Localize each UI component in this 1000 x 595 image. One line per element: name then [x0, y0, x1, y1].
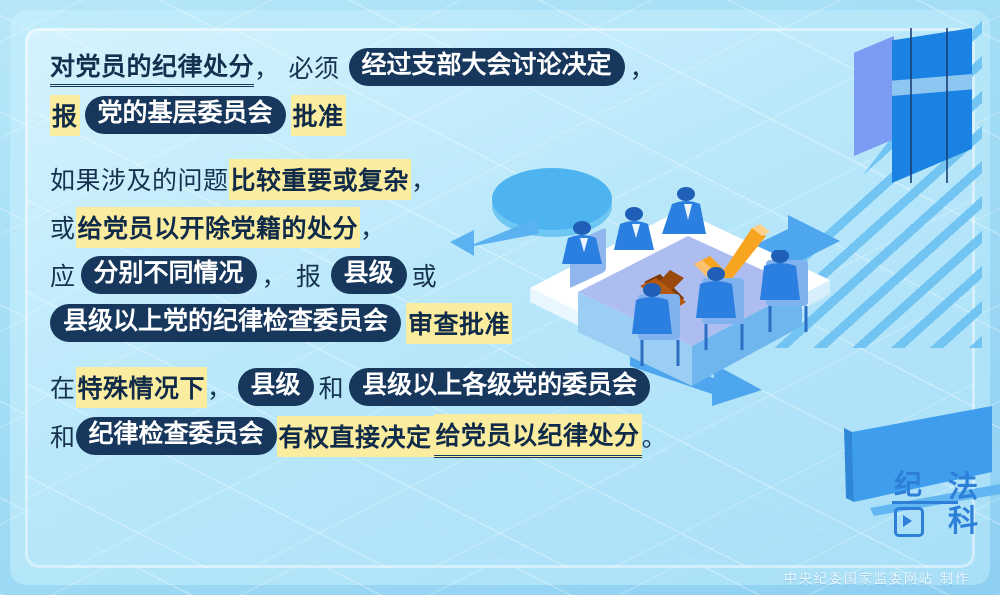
text-plain: 或	[412, 257, 438, 293]
text-plain: 和	[50, 418, 76, 454]
text-highlight: 审查批准	[406, 303, 512, 344]
text-plain: 如果涉及的问题	[50, 161, 229, 197]
text-highlight-underline: 给党员以纪律处分	[434, 414, 642, 458]
logo-glyph-ji: 纪	[894, 471, 922, 499]
text-plain: 和	[319, 369, 345, 405]
infographic-canvas: 对党员的纪律处分 ， 必须 经过支部大会讨论决定 ， 报 党的基层委员会 批准 …	[0, 0, 1000, 595]
credit-text: 中央纪委国家监委网站 制作	[784, 568, 970, 587]
text-plain: ，	[262, 257, 288, 293]
pill-tag: 县级以上各级党的委员会	[349, 368, 650, 406]
pill-tag: 县级	[331, 256, 407, 294]
pill-tag: 纪律检查委员会	[76, 417, 277, 455]
text-line: 报 党的基层委员会 批准	[50, 94, 660, 136]
pill-tag: 分别不同情况	[81, 256, 257, 294]
text-highlight: 给党员以开除党籍的处分	[76, 207, 361, 248]
text-highlight: 特殊情况下	[76, 367, 208, 408]
text-plain: 。	[642, 418, 668, 454]
text-highlight: 报	[50, 95, 80, 136]
text-underline: 对党员的纪律处分	[50, 47, 254, 87]
paragraph-3: 在 特殊情况下 ， 县级 和 县级以上各级党的委员会 和 纪律检查委员会 有权直…	[50, 366, 660, 458]
text-plain: 在	[50, 369, 76, 405]
text-plain: ，	[360, 209, 386, 245]
pill-tag: 县级以上党的纪律检查委员会	[50, 304, 401, 342]
logo-glyph-ke: 科	[948, 507, 978, 537]
text-plain: ，	[254, 49, 280, 85]
text-line: 如果涉及的问题 比较重要或复杂 ，	[50, 158, 660, 200]
text-plain: 或	[50, 209, 76, 245]
text-plain: ，	[207, 369, 233, 405]
pill-tag: 党的基层委员会	[85, 96, 286, 134]
logo-glyph-fa: 法	[948, 473, 978, 503]
logo-play-triangle-icon	[903, 515, 912, 527]
pill-tag: 经过支部大会讨论决定	[349, 48, 625, 86]
text-line: 县级以上党的纪律检查委员会 审查批准	[50, 302, 660, 344]
text-line: 或 给党员以开除党籍的处分 ，	[50, 206, 660, 248]
text-plain: ，	[630, 49, 656, 85]
text-plain: 报	[296, 257, 322, 293]
text-line: 在 特殊情况下 ， 县级 和 县级以上各级党的委员会	[50, 366, 660, 408]
text-line: 和 纪律检查委员会 有权直接决定 给党员以纪律处分 。	[50, 414, 660, 458]
stair-building-icon	[854, 28, 972, 188]
body-text-column: 对党员的纪律处分 ， 必须 经过支部大会讨论决定 ， 报 党的基层委员会 批准 …	[50, 46, 660, 480]
text-highlight: 批准	[291, 95, 346, 136]
text-line: 应 分别不同情况 ， 报 县级 或	[50, 254, 660, 296]
paragraph-2: 如果涉及的问题 比较重要或复杂 ， 或 给党员以开除党籍的处分 ， 应 分别不同…	[50, 158, 660, 344]
brand-logo: 纪 法 科	[892, 471, 978, 537]
text-highlight: 有权直接决定	[277, 416, 434, 457]
text-line: 对党员的纪律处分 ， 必须 经过支部大会讨论决定 ，	[50, 46, 660, 88]
paragraph-1: 对党员的纪律处分 ， 必须 经过支部大会讨论决定 ， 报 党的基层委员会 批准	[50, 46, 660, 136]
pill-tag: 县级	[238, 368, 314, 406]
official-figure-group-front	[630, 250, 870, 395]
text-plain: 必须	[289, 49, 340, 85]
text-highlight: 比较重要或复杂	[229, 159, 412, 200]
text-plain: ，	[411, 161, 437, 197]
text-plain: 应	[50, 257, 76, 293]
